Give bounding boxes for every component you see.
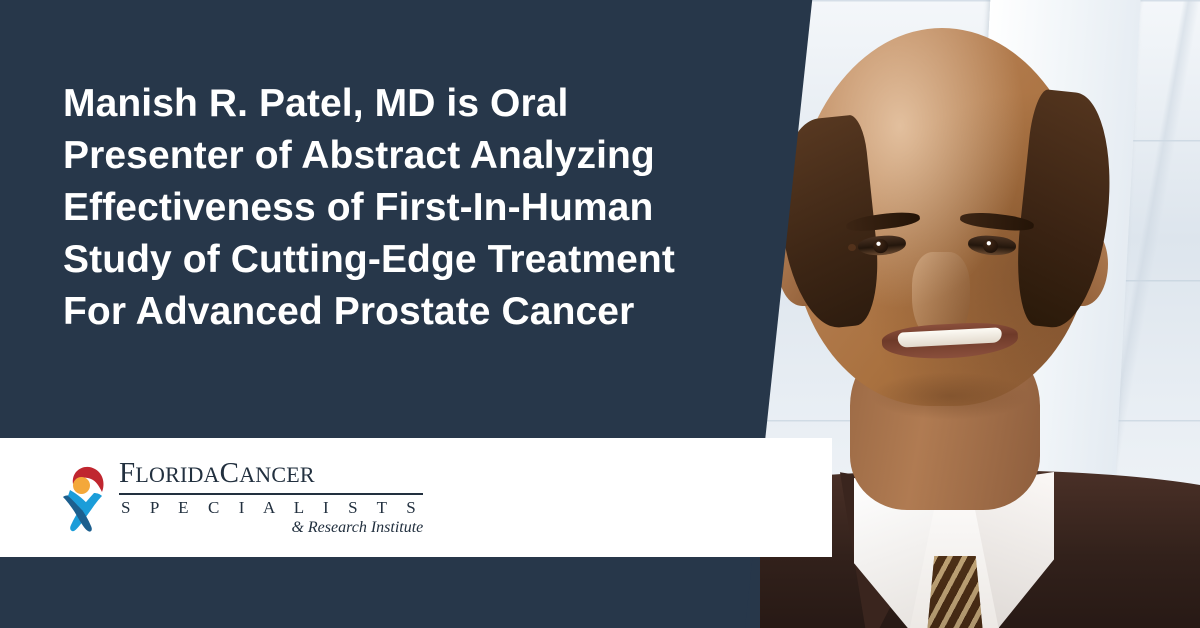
brand-f: F bbox=[119, 457, 135, 489]
chin-shadow bbox=[870, 372, 1030, 420]
brand-ancer: ANCER bbox=[239, 462, 315, 487]
brand-specialists: S P E C I A L I S T S bbox=[119, 498, 423, 517]
brand-lorida: LORIDA bbox=[135, 462, 219, 487]
promotional-banner: Manish R. Patel, MD is Oral Presenter of… bbox=[0, 0, 1200, 628]
brand-lockup: FLORIDACANCER S P E C I A L I S T S & Re… bbox=[58, 458, 423, 537]
page-title: Manish R. Patel, MD is Oral Presenter of… bbox=[63, 78, 723, 338]
brand-wordmark: FLORIDACANCER S P E C I A L I S T S & Re… bbox=[119, 458, 423, 537]
brand-name-line: FLORIDACANCER bbox=[119, 458, 423, 490]
ribbon-figure-icon bbox=[58, 463, 110, 533]
brand-research-institute: & Research Institute bbox=[119, 518, 423, 537]
teeth bbox=[897, 327, 1002, 347]
logo-footer-bar: FLORIDACANCER S P E C I A L I S T S & Re… bbox=[0, 438, 832, 557]
brand-c: C bbox=[220, 457, 240, 489]
brand-rule bbox=[119, 493, 423, 495]
facial-mole bbox=[848, 244, 856, 251]
